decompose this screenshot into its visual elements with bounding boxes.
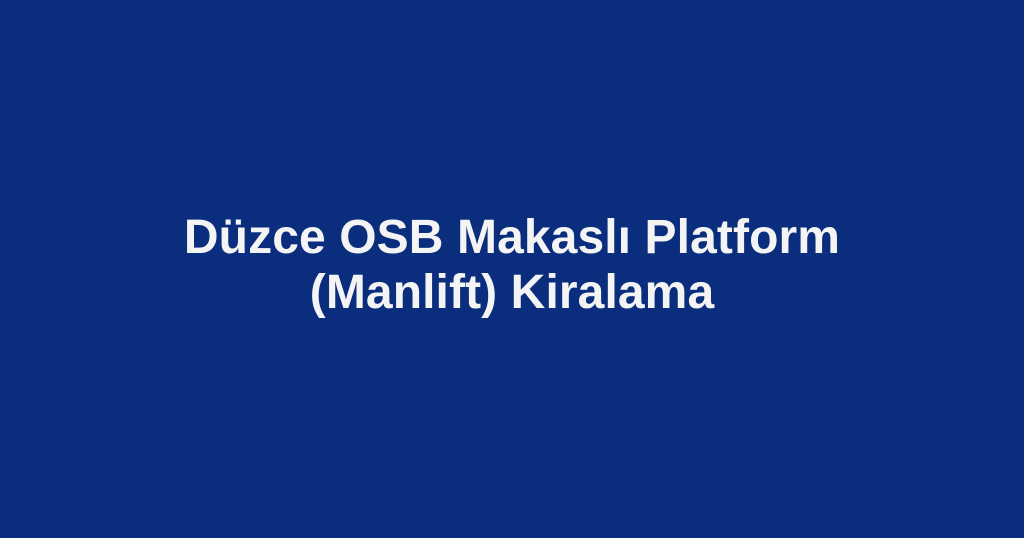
page-title: Düzce OSB Makaslı Platform (Manlift) Kir… bbox=[174, 210, 850, 320]
headline-block: Düzce OSB Makaslı Platform (Manlift) Kir… bbox=[162, 210, 862, 320]
share-card: Düzce OSB Makaslı Platform (Manlift) Kir… bbox=[0, 0, 1024, 538]
